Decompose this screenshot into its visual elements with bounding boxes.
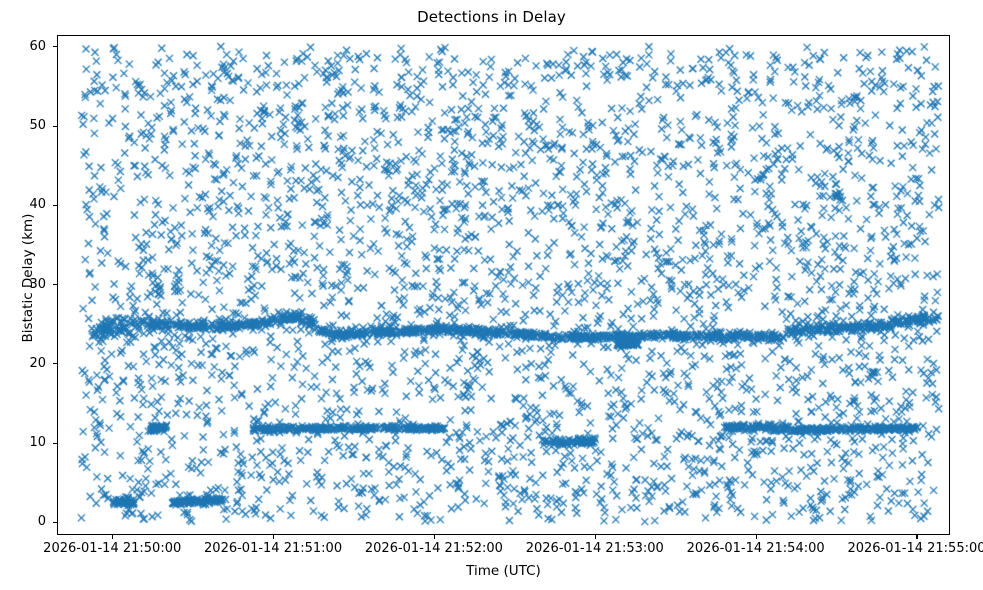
y-tick-mark: [53, 46, 57, 47]
x-tick-mark: [756, 535, 757, 539]
x-tick-mark: [273, 535, 274, 539]
y-axis-label: Bistatic Delay (km): [20, 28, 36, 528]
figure-canvas: Detections in Delay 0102030405060 2026-0…: [0, 0, 983, 590]
plot-axes: [57, 35, 950, 535]
y-tick-mark: [53, 363, 57, 364]
x-axis-label: Time (UTC): [57, 563, 950, 579]
x-tick-mark: [434, 535, 435, 539]
y-tick-mark: [53, 284, 57, 285]
x-tick-mark: [595, 535, 596, 539]
x-tick-mark: [916, 535, 917, 539]
x-tick-label: 2026-01-14 21:55:00: [806, 541, 983, 556]
y-tick-mark: [53, 126, 57, 127]
y-tick-mark: [53, 522, 57, 523]
x-tick: 2026-01-14 21:55:00: [806, 535, 983, 557]
x-tick-mark: [112, 535, 113, 539]
y-tick-mark: [53, 443, 57, 444]
y-tick-label: 0: [38, 514, 46, 530]
page-title: Detections in Delay: [0, 8, 983, 26]
y-tick-mark: [53, 205, 57, 206]
scatter-plot-area: [58, 36, 950, 535]
